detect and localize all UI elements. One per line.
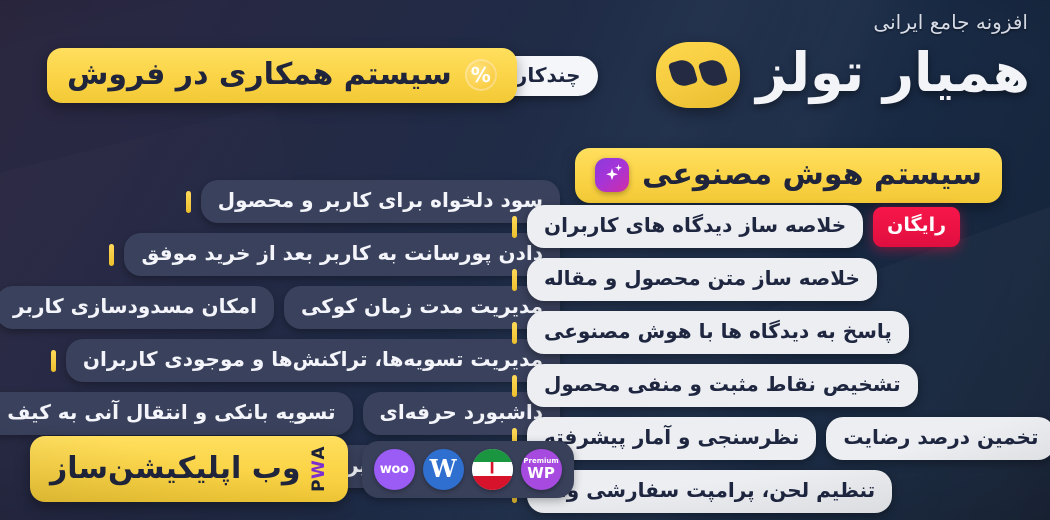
list-item: دادن پورسانت به کاربر بعد از خرید موفق bbox=[109, 233, 560, 276]
list-item: تشخیص نقاط مثبت و منفی محصول bbox=[512, 364, 918, 407]
sparkle-icon bbox=[595, 158, 629, 192]
feature-pill[interactable]: خلاصه ساز متن محصول و مقاله bbox=[527, 258, 877, 301]
ai-section-title: سیستم هوش مصنوعی bbox=[642, 158, 982, 193]
wordpress-badge: W bbox=[423, 449, 464, 490]
list-item: تسویه بانکی و انتقال آنی به کیف پول داشب… bbox=[0, 392, 560, 435]
premium-wp-main-label: WP bbox=[527, 466, 555, 481]
bottom-bar: وب اپلیکیشن‌ساز PWA woo W ا Premium WP bbox=[30, 436, 574, 502]
affiliate-section-header: % سیستم همکاری در فروش bbox=[47, 48, 517, 103]
percent-icon: % bbox=[465, 59, 497, 91]
affiliate-section-title: سیستم همکاری در فروش bbox=[67, 58, 452, 93]
page-title: همیار تولز bbox=[756, 46, 1030, 100]
list-item: پاسخ به دیدگاه ها با هوش مصنوعی bbox=[512, 311, 909, 354]
brand-row: همیار تولز bbox=[656, 40, 1030, 106]
tagline: افزونه جامع ایرانی bbox=[873, 10, 1028, 34]
feature-pill[interactable]: تنظیم لحن، پرامپت سفارشی و... bbox=[527, 470, 892, 513]
feature-pill[interactable]: تسویه بانکی و انتقال آنی به کیف پول bbox=[0, 392, 353, 435]
bullet-tick-icon bbox=[512, 216, 517, 238]
feature-pill[interactable]: دادن پورسانت به کاربر بعد از خرید موفق bbox=[124, 233, 560, 276]
promo-banner: افزونه جامع ایرانی همیار تولز چندکاره % … bbox=[0, 0, 1050, 520]
list-item: رایگان خلاصه ساز دیدگاه های کاربران bbox=[512, 205, 960, 248]
woocommerce-badge: woo bbox=[374, 449, 415, 490]
iran-flag-badge: ا bbox=[472, 449, 513, 490]
bullet-tick-icon bbox=[186, 191, 191, 213]
woocommerce-label: woo bbox=[380, 462, 409, 477]
bullet-tick-icon bbox=[512, 269, 517, 291]
wordpress-label: W bbox=[430, 457, 457, 481]
ai-feature-list: رایگان خلاصه ساز دیدگاه های کاربران خلاص… bbox=[512, 205, 1022, 513]
pwa-icon: PWA bbox=[311, 446, 328, 492]
status-badge: رایگان bbox=[873, 207, 960, 247]
platform-badge-tray: woo W ا Premium WP bbox=[362, 441, 574, 498]
feature-pill[interactable]: تخمین درصد رضایت bbox=[826, 417, 1050, 460]
web-app-builder-button[interactable]: وب اپلیکیشن‌ساز PWA bbox=[30, 436, 348, 502]
list-item: خلاصه ساز متن محصول و مقاله bbox=[512, 258, 877, 301]
web-app-builder-label: وب اپلیکیشن‌ساز bbox=[50, 452, 301, 487]
bullet-tick-icon bbox=[109, 244, 114, 266]
feature-pill[interactable]: پاسخ به دیدگاه ها با هوش مصنوعی bbox=[527, 311, 909, 354]
feature-pill[interactable]: مدیریت تسویه‌ها، تراکنش‌ها و موجودی کارب… bbox=[66, 339, 560, 382]
list-item: سود دلخواه برای کاربر و محصول bbox=[186, 180, 560, 223]
iran-emblem-icon: ا bbox=[489, 462, 494, 477]
list-item: مدیریت تسویه‌ها، تراکنش‌ها و موجودی کارب… bbox=[51, 339, 560, 382]
bullet-tick-icon bbox=[51, 350, 56, 372]
hamyar-logo-icon bbox=[656, 42, 740, 108]
affiliate-feature-list: سود دلخواه برای کاربر و محصول دادن پورسا… bbox=[30, 124, 560, 488]
feature-pill[interactable]: امکان مسدودسازی کاربر bbox=[0, 286, 274, 329]
premium-wp-badge: Premium WP bbox=[521, 449, 562, 490]
bullet-tick-icon bbox=[512, 322, 517, 344]
feature-pill[interactable]: تشخیص نقاط مثبت و منفی محصول bbox=[527, 364, 918, 407]
bullet-tick-icon bbox=[512, 375, 517, 397]
ai-section-header: سیستم هوش مصنوعی bbox=[575, 148, 1002, 203]
feature-pill[interactable]: خلاصه ساز دیدگاه های کاربران bbox=[527, 205, 863, 248]
feature-pill[interactable]: سود دلخواه برای کاربر و محصول bbox=[201, 180, 560, 223]
list-item: امکان مسدودسازی کاربر مدیریت مدت زمان کو… bbox=[0, 286, 560, 329]
list-item: تخمین درصد رضایت نظرسنجی و آمار پیشرفته bbox=[512, 417, 1050, 460]
